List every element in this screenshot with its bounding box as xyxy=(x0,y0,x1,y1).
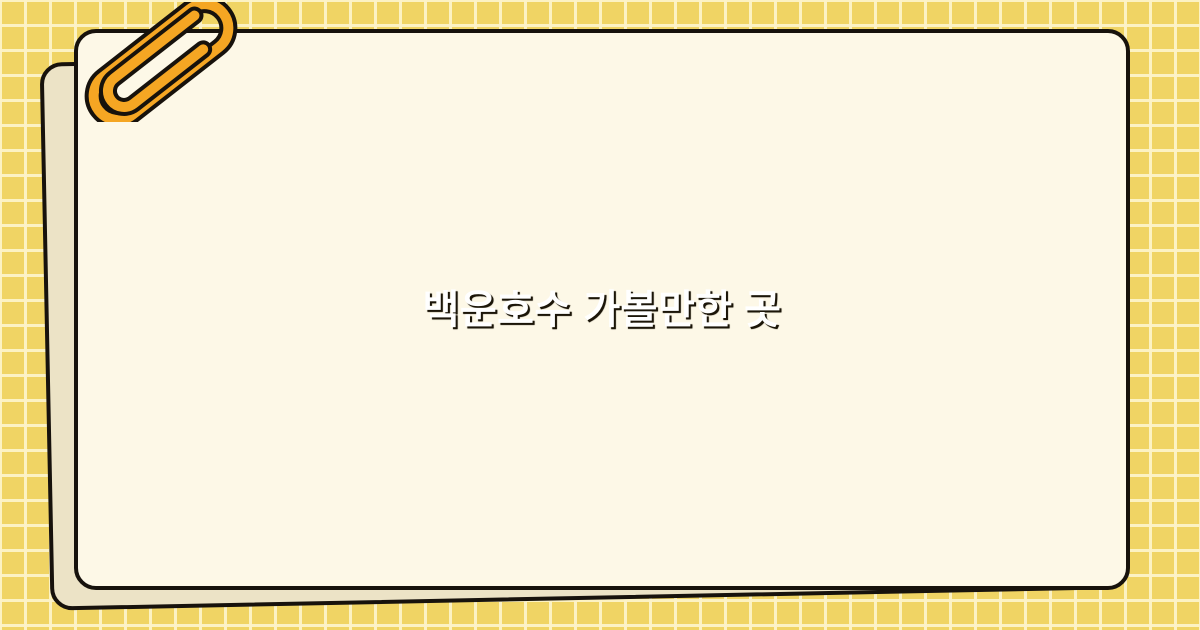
card-stack: 백운호수 가볼만한 곳 xyxy=(0,0,1200,630)
page-title: 백운호수 가볼만한 곳 xyxy=(423,285,782,335)
card-title-wrapper: 백운호수 가볼만한 곳 xyxy=(78,33,1126,586)
note-card: 백운호수 가볼만한 곳 xyxy=(74,29,1130,590)
